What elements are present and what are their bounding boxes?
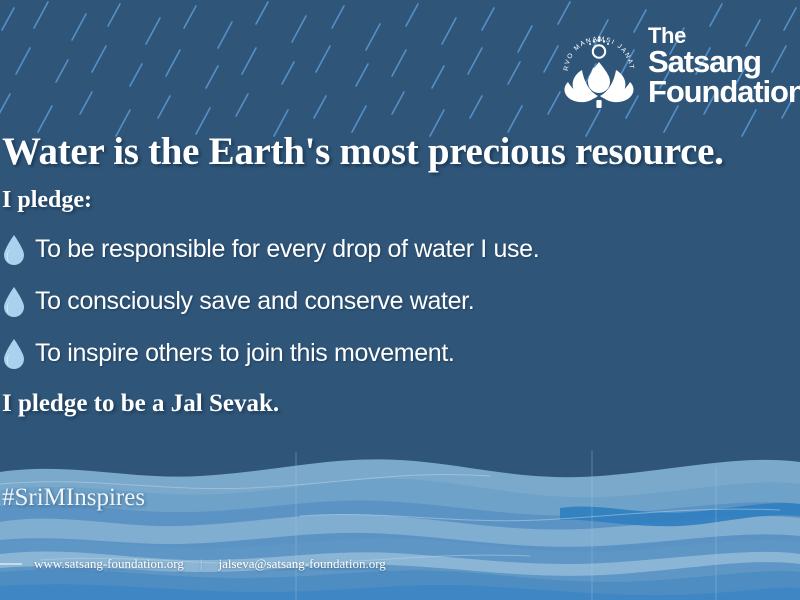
list-item: To be responsible for every drop of wate… <box>2 234 798 266</box>
water-drop-icon <box>2 338 26 370</box>
wave-bands-svg <box>0 450 800 600</box>
pledge-text: To inspire others to join this movement. <box>35 339 455 368</box>
logo-line-satsang: Satsang <box>648 47 800 77</box>
pledge-list: To be responsible for every drop of wate… <box>2 234 798 370</box>
pledge-poster: SARVO MANAMSI JANATAM <box>0 0 800 600</box>
closing-statement: I pledge to be a Jal Sevak. <box>2 390 798 418</box>
list-item: To consciously save and conserve water. <box>2 286 798 318</box>
logo-motto-text: SARVO MANAMSI JANATAM <box>560 22 635 71</box>
water-waves-background <box>0 450 800 600</box>
poster-content: Water is the Earth's most precious resou… <box>2 132 798 418</box>
lotus-emblem-icon: SARVO MANAMSI JANATAM <box>560 22 638 110</box>
logo-wordmark: The Satsang Foundation <box>648 25 800 106</box>
footer-email[interactable]: jalseva@satsang-foundation.org <box>218 556 385 572</box>
water-drop-icon <box>2 234 26 266</box>
pledge-text: To consciously save and conserve water. <box>35 287 474 316</box>
footer-separator: | <box>194 556 209 572</box>
logo-line-foundation: Foundation <box>648 77 800 107</box>
footer-website[interactable]: www.satsang-foundation.org <box>34 556 184 572</box>
pledge-text: To be responsible for every drop of wate… <box>35 235 539 264</box>
list-item: To inspire others to join this movement. <box>2 338 798 370</box>
footer-dash-decoration <box>0 563 22 565</box>
pledge-intro-label: I pledge: <box>2 187 798 214</box>
satsang-foundation-logo: SARVO MANAMSI JANATAM <box>560 22 800 110</box>
footer-contact-bar: www.satsang-foundation.org | jalseva@sat… <box>0 556 386 572</box>
water-drop-icon <box>2 286 26 318</box>
page-title: Water is the Earth's most precious resou… <box>2 132 798 173</box>
campaign-hashtag: #SriMInspires <box>2 484 145 512</box>
